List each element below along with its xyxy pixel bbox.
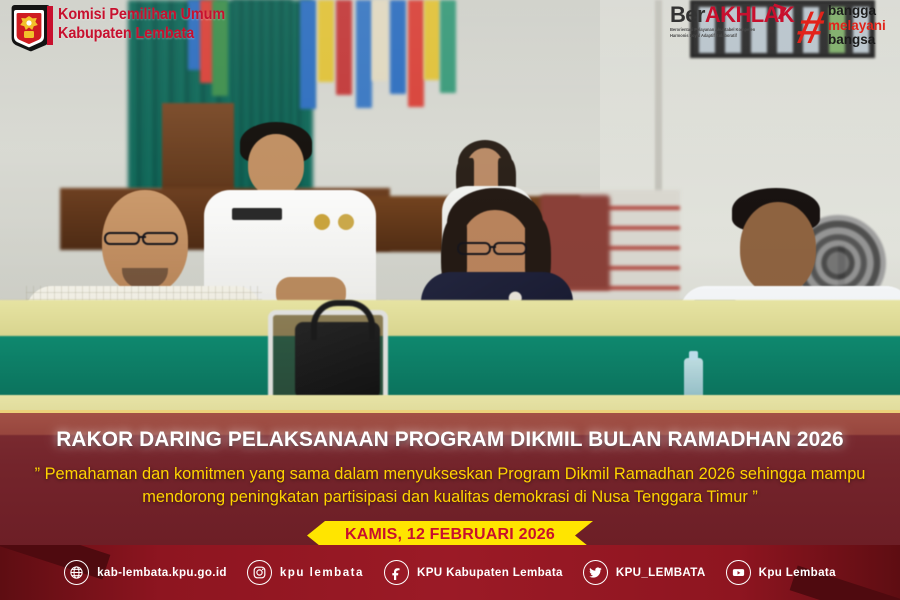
bangga-line-2: melayani <box>828 19 886 34</box>
social-instagram[interactable]: kpu lembata <box>247 560 364 585</box>
berakhlak-subtitle-2: Harmonis Loyal Adaptif Kolaboratif <box>670 33 798 38</box>
social-label: kpu lembata <box>280 566 364 579</box>
photo-handbag <box>295 322 380 402</box>
event-quote: ” Pemahaman dan komitmen yang sama dalam… <box>18 463 882 509</box>
social-label: Kpu Lembata <box>759 566 836 579</box>
instagram-icon <box>247 560 272 585</box>
social-label: KPU Kabupaten Lembata <box>417 566 563 579</box>
kpu-title-line-2: Kabupaten Lembata <box>58 24 225 43</box>
hash-icon: # <box>794 6 833 48</box>
poster-root: Komisi Pemilihan Umum Kabupaten Lembata … <box>0 0 900 600</box>
berakhlak-logo: BerAKHLAK Berorientasi Pelayanan Akuntab… <box>670 4 798 39</box>
social-facebook[interactable]: KPU Kabupaten Lembata <box>384 560 563 585</box>
facebook-icon <box>384 560 409 585</box>
globe-icon <box>64 560 89 585</box>
kpu-title: Komisi Pemilihan Umum Kabupaten Lembata <box>58 5 225 43</box>
social-footer: kab-lembata.kpu.go.idkpu lembataKPU Kabu… <box>0 545 900 600</box>
bangga-wordmark: bangga melayani bangsa <box>828 4 886 48</box>
social-globe[interactable]: kab-lembata.kpu.go.id <box>64 560 227 585</box>
bangga-line-1: bangga <box>828 4 886 19</box>
social-label: kab-lembata.kpu.go.id <box>97 566 227 579</box>
social-youtube[interactable]: Kpu Lembata <box>726 560 836 585</box>
kpu-title-line-1: Komisi Pemilihan Umum <box>58 5 225 24</box>
poster-header: Komisi Pemilihan Umum Kabupaten Lembata … <box>0 0 900 56</box>
bangga-melayani-bangsa-logo: # bangga melayani bangsa <box>798 3 894 51</box>
berakhlak-subtitle-1: Berorientasi Pelayanan Akuntabel Kompete… <box>670 27 798 32</box>
twitter-icon <box>583 560 608 585</box>
event-title: RAKOR DARING PELAKSANAAN PROGRAM DIKMIL … <box>14 427 887 452</box>
bangga-line-3: bangsa <box>828 33 886 48</box>
social-twitter[interactable]: KPU_LEMBATA <box>583 560 706 585</box>
social-label: KPU_LEMBATA <box>616 566 706 579</box>
kpu-title-accent-bar <box>47 6 53 45</box>
youtube-icon <box>726 560 751 585</box>
kpu-logo <box>6 2 52 52</box>
social-list: kab-lembata.kpu.go.idkpu lembataKPU Kabu… <box>0 545 900 600</box>
berakhlak-ber: Ber <box>670 2 705 27</box>
